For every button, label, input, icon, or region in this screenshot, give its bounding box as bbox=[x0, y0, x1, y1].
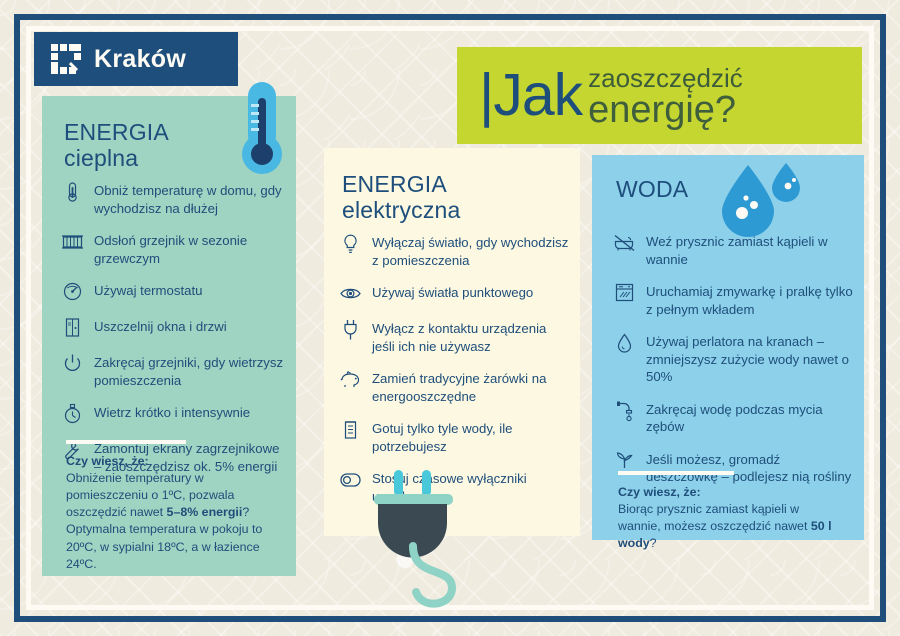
section-energia-cieplna: ENERGIA cieplna Obniż temperaturę w domu… bbox=[42, 96, 296, 576]
note-label: Czy wiesz, że: bbox=[66, 454, 149, 468]
thermometer-small-icon bbox=[62, 180, 83, 203]
list-item: Zamień tradycyjne żarówki na energooszcz… bbox=[340, 368, 570, 405]
krakow-mosaic-logo-icon bbox=[51, 44, 81, 74]
list-item-label: Odsłoń grzejnik w sezonie grzewczym bbox=[94, 230, 284, 267]
list-item: Wyłączaj światło, gdy wychodzisz z pomie… bbox=[340, 232, 570, 269]
stopwatch-icon bbox=[62, 402, 83, 425]
heading-line-1: WODA bbox=[616, 176, 688, 202]
list-item: Zakręcaj wodę podczas mycia zębów bbox=[614, 399, 854, 436]
list-item-label: Obniż temperaturę w domu, gdy wychodzisz… bbox=[94, 180, 284, 217]
thermostat-gauge-icon bbox=[62, 280, 83, 303]
list-item: Uszczelnij okna i drzwi bbox=[62, 316, 284, 339]
note-text-bold-1: 5–8% energii bbox=[167, 505, 243, 519]
list-item-label: Zamień tradycyjne żarówki na energooszcz… bbox=[372, 368, 570, 405]
window-door-icon bbox=[62, 316, 83, 339]
list-item-label: Wyłączaj światło, gdy wychodzisz z pomie… bbox=[372, 232, 570, 269]
page-title-line1: zaoszczędzić bbox=[588, 65, 743, 91]
list-item-label: Używaj światła punktowego bbox=[372, 282, 533, 302]
eye-icon bbox=[340, 282, 361, 305]
power-off-icon bbox=[62, 352, 83, 375]
list-item-label: Używaj termostatu bbox=[94, 280, 202, 300]
list-item-label: Zakręcaj wodę podczas mycia zębów bbox=[646, 399, 854, 436]
list-item: Używaj termostatu bbox=[62, 280, 284, 303]
note-text-1: Biorąc prysznic zamiast kąpieli w wannie… bbox=[618, 502, 811, 533]
faucet-icon bbox=[614, 399, 635, 422]
note-label: Czy wiesz, że: bbox=[618, 485, 701, 499]
list-item-label: Uszczelnij okna i drzwi bbox=[94, 316, 227, 336]
list-item: Zakręcaj grzejniki, gdy wietrzysz pomies… bbox=[62, 352, 284, 389]
poster-title: |Jak zaoszczędzić energię? bbox=[457, 47, 862, 144]
list-item-label: Używaj perlatora na kranach – zmniejszys… bbox=[646, 331, 854, 386]
krakow-logo-text: Kraków bbox=[94, 45, 186, 74]
thermometer-icon bbox=[234, 82, 290, 178]
note-text-2: ? bbox=[650, 536, 657, 550]
list-item: Używaj światła punktowego bbox=[340, 282, 570, 305]
list-item: Gotuj tylko tyle wody, ile potrzebujesz bbox=[340, 418, 570, 455]
list-item-label: Wietrz krótko i intensywnie bbox=[94, 402, 250, 422]
list-item-label: Gotuj tylko tyle wody, ile potrzebujesz bbox=[372, 418, 570, 455]
radiator-icon bbox=[62, 230, 83, 253]
list-item: Wyłącz z kontaktu urządzenia jeśli ich n… bbox=[340, 318, 570, 355]
list-item-label: Wyłącz z kontaktu urządzenia jeśli ich n… bbox=[372, 318, 570, 355]
section-energia-elektryczna: ENERGIA elektryczna Wyłączaj światło, gd… bbox=[324, 148, 580, 536]
kettle-icon bbox=[340, 418, 361, 441]
list-item: Wietrz krótko i intensywnie bbox=[62, 402, 284, 425]
section-heading-woda: WODA bbox=[616, 177, 688, 203]
dishwasher-icon bbox=[614, 281, 635, 304]
section-heading-energia-cieplna: ENERGIA cieplna bbox=[64, 120, 169, 172]
heading-line-2: elektryczna bbox=[342, 198, 461, 224]
lightbulb-icon bbox=[340, 232, 361, 255]
sprout-icon bbox=[614, 449, 635, 472]
note-divider bbox=[618, 471, 734, 475]
heading-line-1: ENERGIA bbox=[342, 171, 447, 197]
list-item-label: Zakręcaj grzejniki, gdy wietrzysz pomies… bbox=[94, 352, 284, 389]
piggy-bank-icon bbox=[340, 368, 361, 391]
heading-line-1: ENERGIA bbox=[64, 119, 169, 145]
heading-line-2: cieplna bbox=[64, 146, 169, 172]
note-woda: Czy wiesz, że: Biorąc prysznic zamiast k… bbox=[618, 484, 844, 552]
tips-list-woda: Weź prysznic zamiast kąpieli w wannie Ur… bbox=[614, 231, 854, 499]
list-item: Uruchamiaj zmywarkę i pralkę tylko z peł… bbox=[614, 281, 854, 318]
note-energia-cieplna: Czy wiesz, że: Obniżenie temperatury w p… bbox=[66, 453, 280, 573]
section-heading-energia-elektryczna: ENERGIA elektryczna bbox=[342, 172, 461, 224]
page-title-line2: energię? bbox=[588, 91, 743, 129]
power-plug-icon bbox=[356, 470, 486, 620]
list-item: Używaj perlatora na kranach – zmniejszys… bbox=[614, 331, 854, 386]
water-drops-icon bbox=[710, 157, 805, 242]
page-title-main: |Jak bbox=[479, 67, 582, 123]
list-item: Jeśli możesz, gromadź deszczówkę – podle… bbox=[614, 449, 854, 486]
krakow-logo-bar: Kraków bbox=[34, 32, 238, 86]
water-drop-icon bbox=[614, 331, 635, 354]
no-bathtub-icon bbox=[614, 231, 635, 254]
list-item-label: Weź prysznic zamiast kąpieli w wannie bbox=[646, 231, 854, 268]
list-item-label: Uruchamiaj zmywarkę i pralkę tylko z peł… bbox=[646, 281, 854, 318]
section-woda: WODA Weź prysznic zamiast kąpieli w wann… bbox=[592, 155, 864, 540]
list-item: Weź prysznic zamiast kąpieli w wannie bbox=[614, 231, 854, 268]
list-item: Odsłoń grzejnik w sezonie grzewczym bbox=[62, 230, 284, 267]
list-item-label: Jeśli możesz, gromadź deszczówkę – podle… bbox=[646, 449, 854, 486]
poster-canvas: Kraków |Jak zaoszczędzić energię? ENERGI… bbox=[0, 0, 900, 636]
plug-icon bbox=[340, 318, 361, 341]
list-item: Obniż temperaturę w domu, gdy wychodzisz… bbox=[62, 180, 284, 217]
note-divider bbox=[66, 440, 186, 444]
